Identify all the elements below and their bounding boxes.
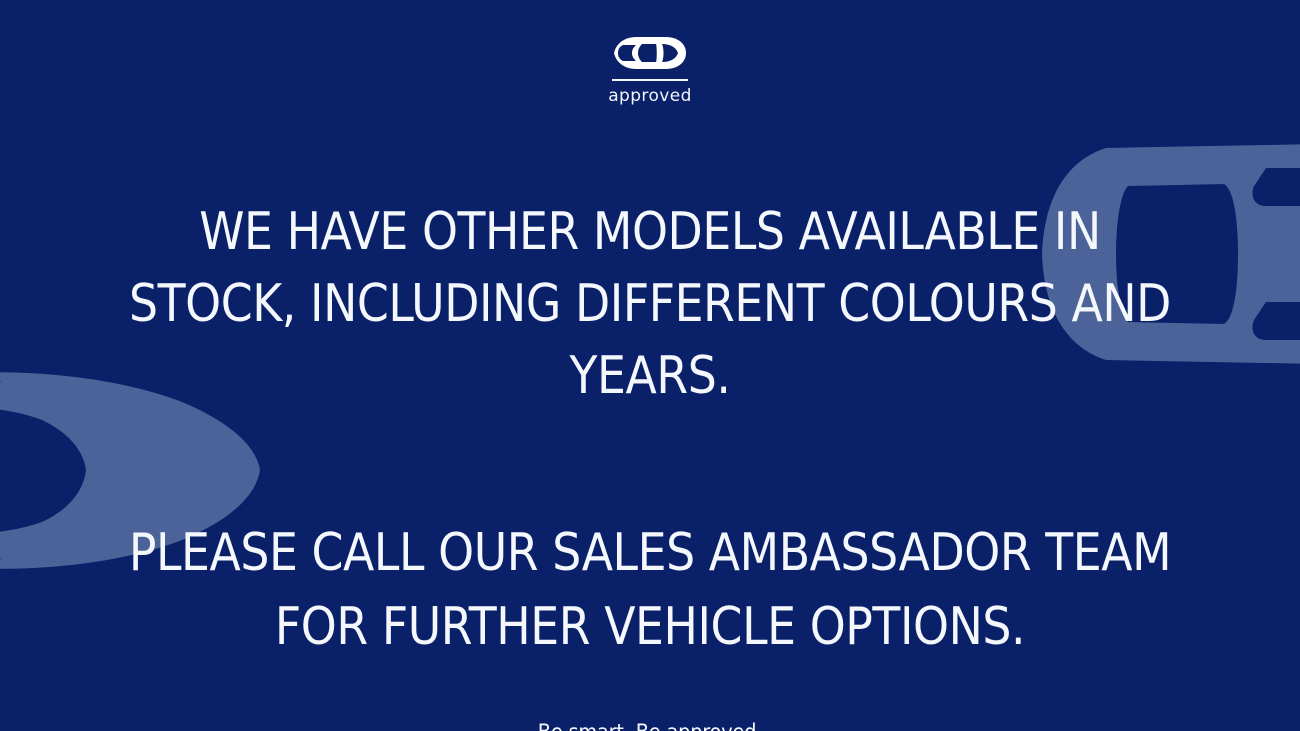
- headline-primary: WE HAVE OTHER MODELS AVAILABLE IN STOCK,…: [113, 196, 1187, 412]
- headline-secondary: PLEASE CALL OUR SALES AMBASSADOR TEAM FO…: [113, 516, 1187, 664]
- brand-logo-block: approved: [0, 36, 1300, 105]
- logo-divider: [612, 79, 688, 81]
- message-copy: WE HAVE OTHER MODELS AVAILABLE IN STOCK,…: [0, 196, 1300, 731]
- car-top-view-icon: [612, 36, 688, 70]
- brand-tagline: Be smart. Be approved.: [89, 720, 1211, 731]
- brand-wordmark: approved: [608, 88, 692, 105]
- promo-slide: approved WE HAVE OTHER MODELS AVAILABLE …: [0, 0, 1300, 731]
